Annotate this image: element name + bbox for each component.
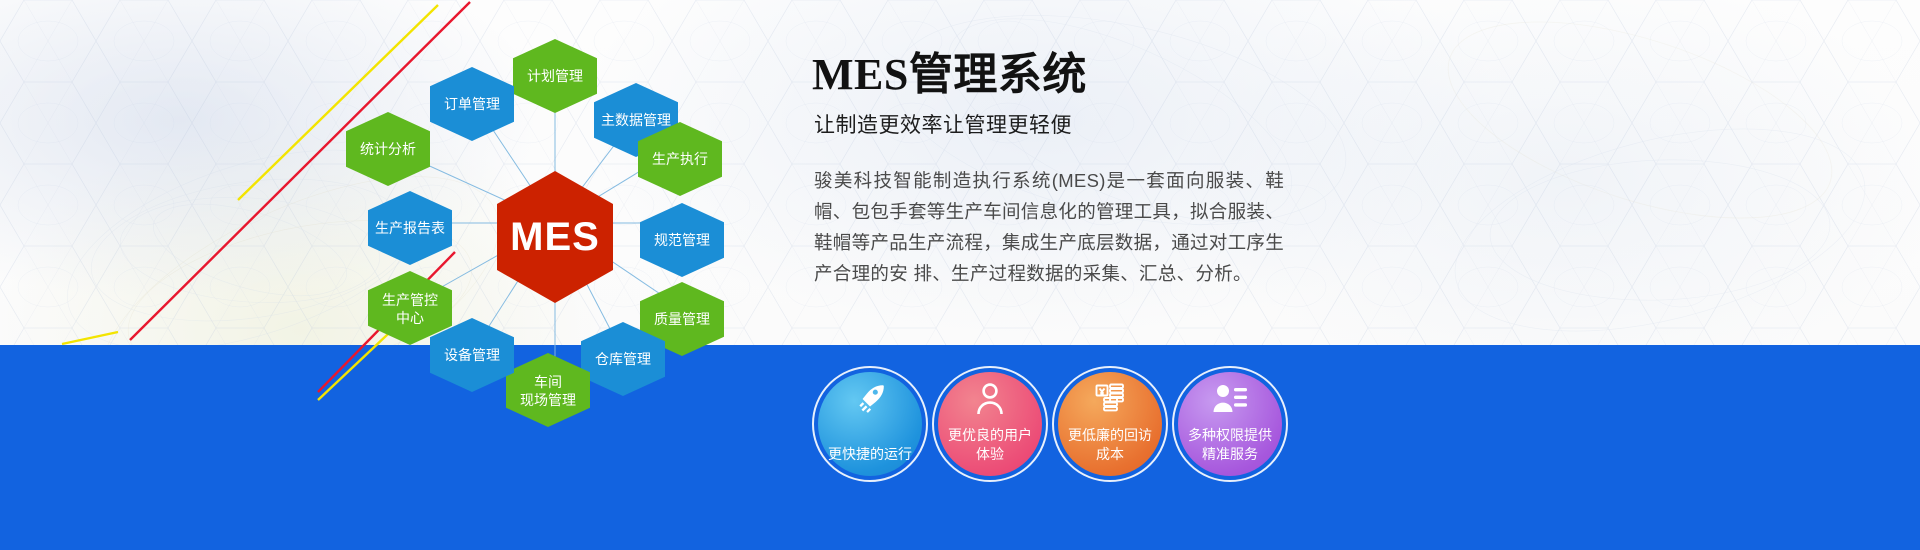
hex-node-11[interactable]: 统计分析 [346, 112, 430, 186]
hex-node-center[interactable]: MES [497, 171, 613, 303]
hex-node-label: 中心 [396, 310, 424, 326]
page-title: MES管理系统 [812, 52, 1872, 99]
badge-label: 更优良的用户体验 [942, 426, 1038, 464]
feature-badges: 更快捷的运行更优良的用户体验更低廉的回访成本多种权限提供精准服务 [818, 372, 1282, 476]
hex-node-label: 订单管理 [444, 96, 500, 112]
feature-badge-2[interactable]: 更优良的用户体验 [938, 372, 1042, 476]
hex-node-label: 现场管理 [520, 392, 576, 408]
hex-node-label: 统计分析 [360, 141, 416, 157]
hex-node-label: 主数据管理 [601, 112, 671, 128]
mes-hex-diagram: 计划管理主数据管理生产执行规范管理质量管理仓库管理车间现场管理设备管理生产管控中… [330, 18, 790, 438]
badge-label: 更低廉的回访成本 [1062, 426, 1158, 464]
rocket-icon [818, 382, 922, 416]
hex-node-label: 规范管理 [654, 232, 710, 248]
coins-icon [1058, 382, 1162, 416]
badge-label: 多种权限提供精准服务 [1182, 426, 1278, 464]
hex-center-label: MES [510, 215, 600, 259]
banner-copy: MES管理系统 让制造更效率让管理更轻便 骏美科技智能制造执行系统(MES)是一… [812, 52, 1872, 289]
user-list-icon [1178, 382, 1282, 416]
banner-stage: 计划管理主数据管理生产执行规范管理质量管理仓库管理车间现场管理设备管理生产管控中… [0, 0, 1920, 550]
page-subtitle: 让制造更效率让管理更轻便 [814, 109, 1872, 139]
feature-badge-3[interactable]: 更低廉的回访成本 [1058, 372, 1162, 476]
hex-node-1[interactable]: 计划管理 [513, 39, 597, 113]
hex-node-label: 车间 [534, 374, 562, 390]
hex-node-label: 设备管理 [444, 347, 500, 363]
hex-node-label: 质量管理 [654, 311, 710, 327]
feature-badge-1[interactable]: 更快捷的运行 [818, 372, 922, 476]
badge-label: 更快捷的运行 [822, 445, 918, 464]
hex-node-label: 生产报告表 [375, 220, 445, 236]
hex-node-7[interactable]: 车间现场管理 [506, 353, 590, 427]
hex-node-label: 生产管控 [382, 292, 438, 308]
user-icon [938, 382, 1042, 416]
description-paragraph: 骏美科技智能制造执行系统(MES)是一套面向服装、鞋帽、包包手套等生产车间信息化… [814, 165, 1284, 289]
hex-node-4[interactable]: 规范管理 [640, 203, 724, 277]
hex-node-label: 计划管理 [527, 68, 583, 84]
feature-badge-4[interactable]: 多种权限提供精准服务 [1178, 372, 1282, 476]
hex-node-label: 仓库管理 [595, 351, 651, 367]
hex-node-label: 生产执行 [652, 151, 708, 167]
hex-node-10[interactable]: 生产报告表 [368, 191, 452, 265]
hex-node-12[interactable]: 订单管理 [430, 67, 514, 141]
